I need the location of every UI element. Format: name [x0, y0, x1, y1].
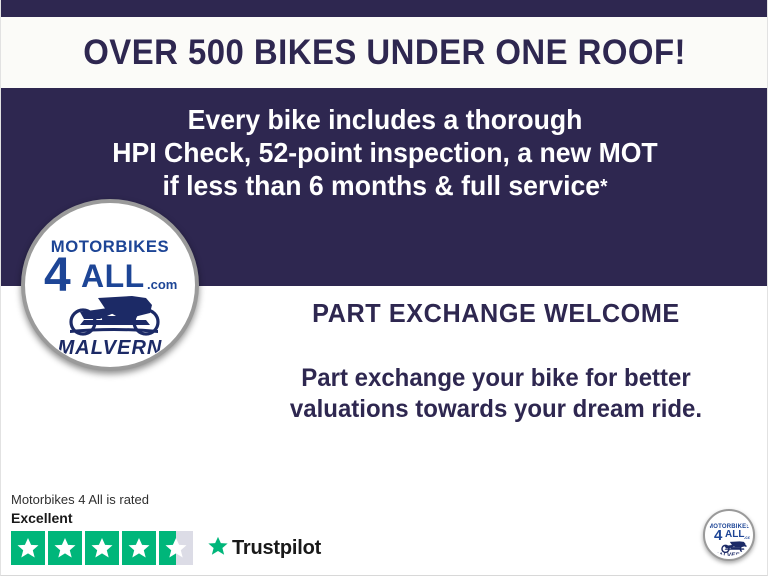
trustpilot-brand[interactable]: Trustpilot: [207, 535, 321, 562]
trustpilot-rated-text: Motorbikes 4 All is rated: [11, 492, 321, 508]
logo-small-all-text: ALL: [725, 530, 744, 540]
inclusions-line-3: if less than 6 months & full service: [163, 170, 601, 201]
motorbike-icon: [54, 292, 174, 339]
trustpilot-rating-row: Trustpilot: [11, 531, 321, 565]
page-title: OVER 500 BIKES UNDER ONE ROOF!: [84, 35, 687, 70]
inclusions-line-2: HPI Check, 52-point inspection, a new MO…: [112, 137, 657, 168]
part-exchange-body-line-1: Part exchange your bike for better: [237, 363, 755, 394]
inclusions-copy: Every bike includes a thorough HPI Check…: [20, 103, 750, 204]
company-logo: MOTORBIKES 4 ALL .com: [21, 199, 199, 371]
trustpilot-widget[interactable]: Motorbikes 4 All is rated Excellent: [11, 492, 321, 565]
logo-small-inner: MOTORBIKES 4 ALL .com: [708, 514, 750, 556]
part-exchange-heading: PART EXCHANGE WELCOME: [234, 300, 758, 326]
inclusions-line-1: Every bike includes a thorough: [188, 104, 583, 135]
part-exchange-body: Part exchange your bike for better valua…: [237, 363, 755, 425]
logo-small-location-text: MALVERN: [708, 553, 750, 556]
dealer-promo-banner: OVER 500 BIKES UNDER ONE ROOF! Every bik…: [0, 0, 768, 576]
trustpilot-wordmark: Trustpilot: [232, 537, 321, 560]
logo-location-text: MALVERN: [26, 337, 194, 360]
logo-inner: MOTORBIKES 4 ALL .com: [26, 204, 194, 366]
star-half-icon: [159, 531, 193, 565]
part-exchange-body-line-2: valuations towards your dream ride.: [237, 394, 755, 425]
motorbike-icon-small: [717, 540, 750, 554]
headline-band: OVER 500 BIKES UNDER ONE ROOF!: [1, 17, 768, 88]
company-logo-small: MOTORBIKES 4 ALL .com: [703, 509, 755, 561]
trustpilot-stars: [11, 531, 193, 565]
trustpilot-star-icon: [207, 535, 229, 562]
star-icon: [122, 531, 156, 565]
logo-domain-text: .com: [147, 278, 177, 291]
footnote-asterisk: *: [600, 176, 607, 198]
star-icon: [48, 531, 82, 565]
star-icon: [11, 531, 45, 565]
star-icon: [85, 531, 119, 565]
logo-all-text: ALL: [81, 260, 145, 292]
trustpilot-rating-label: Excellent: [11, 509, 321, 527]
